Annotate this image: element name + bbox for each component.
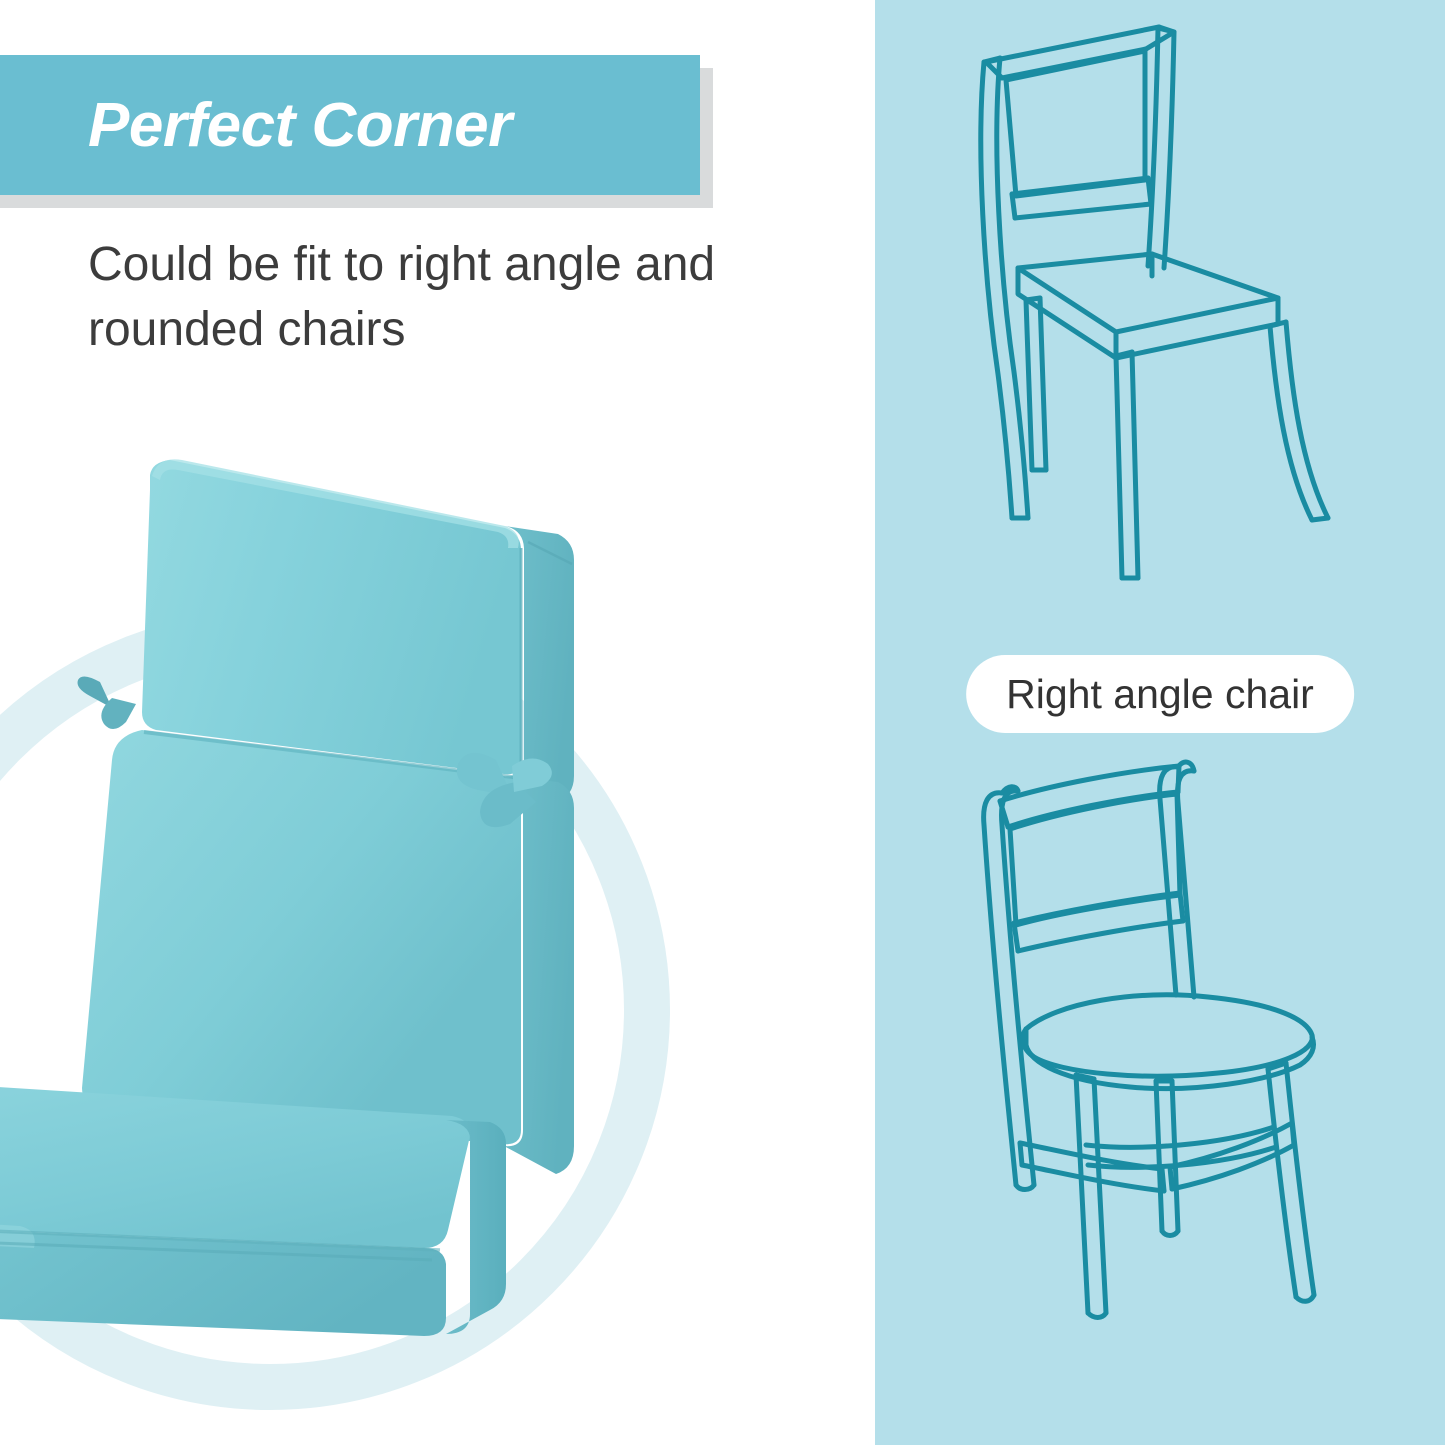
chair-card-round-corner: Round Corner Chair bbox=[875, 745, 1445, 1445]
right-angle-chair-icon bbox=[940, 18, 1380, 633]
left-panel: Perfect Corner Could be fit to right ang… bbox=[0, 0, 875, 1445]
chair-card-right-angle: Right angle chair bbox=[875, 18, 1445, 718]
right-panel: Right angle chair bbox=[875, 0, 1445, 1445]
infographic-page: Perfect Corner Could be fit to right ang… bbox=[0, 0, 1445, 1445]
chair-label-pill: Right angle chair bbox=[966, 655, 1354, 733]
chair-label-text: Right angle chair bbox=[1006, 671, 1314, 718]
round-corner-chair-icon bbox=[930, 745, 1390, 1350]
page-title: Perfect Corner bbox=[88, 90, 512, 161]
title-banner: Perfect Corner bbox=[0, 55, 700, 195]
product-photo-cushion bbox=[0, 430, 680, 1380]
subtitle-text: Could be fit to right angle and rounded … bbox=[88, 232, 848, 363]
